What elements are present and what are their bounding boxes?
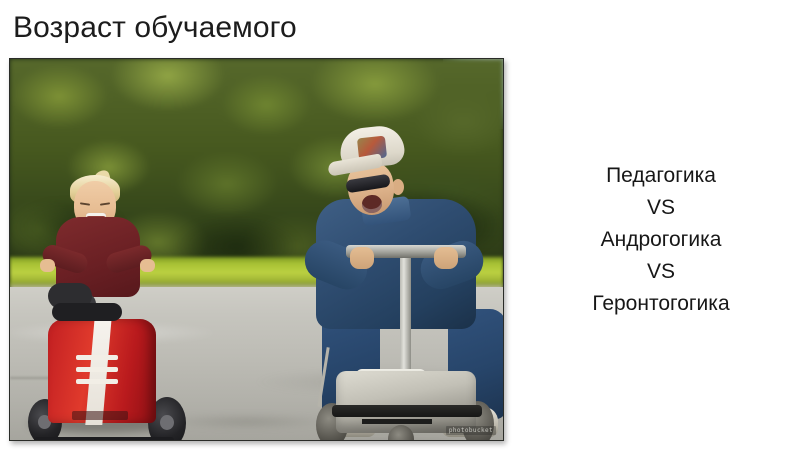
man-right-hand bbox=[434, 247, 458, 269]
boy-right-hand bbox=[140, 259, 155, 272]
comparison-text-block: Педагогика VS Андрогогика VS Геронтогоги… bbox=[530, 160, 792, 320]
kart-steering-wheel bbox=[52, 303, 122, 321]
mower-handle-shaft bbox=[400, 251, 411, 381]
page-title: Возраст обучаемого bbox=[13, 10, 297, 46]
comparison-vs-1: VS bbox=[530, 192, 792, 224]
kart-front-axle bbox=[34, 437, 174, 440]
photo-illustration: photobucket bbox=[10, 59, 503, 440]
comparison-line-pedagogy: Педагогика bbox=[530, 160, 792, 192]
mower-deck-lip bbox=[332, 405, 482, 417]
kart-vent-3 bbox=[76, 379, 118, 384]
photo-watermark: photobucket bbox=[446, 426, 496, 435]
mower-frame-bar bbox=[362, 419, 432, 424]
kart-vent-2 bbox=[76, 367, 118, 372]
boy-left-hand bbox=[40, 259, 55, 272]
man-left-hand bbox=[350, 247, 374, 269]
slide-canvas: Возраст обучаемого bbox=[0, 0, 800, 450]
kart-right-hub bbox=[160, 415, 174, 430]
comparison-vs-2: VS bbox=[530, 256, 792, 288]
kart-badge bbox=[72, 411, 128, 420]
kart-vent-1 bbox=[76, 355, 118, 360]
comparison-line-andragogy: Андрогогика bbox=[530, 224, 792, 256]
comparison-line-gerontogogy: Геронтогогика bbox=[530, 288, 792, 320]
photo-frame[interactable]: photobucket bbox=[9, 58, 504, 441]
